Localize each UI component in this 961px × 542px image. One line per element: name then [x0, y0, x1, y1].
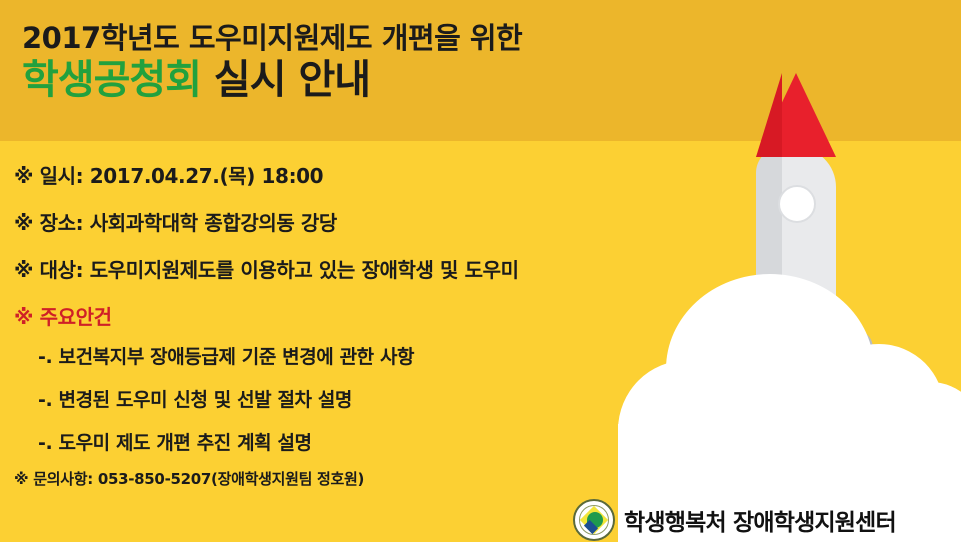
headline-title: 학생공청회 실시 안내 — [22, 57, 722, 104]
agenda-item: -. 변경된 도우미 신청 및 선발 절차 설명 — [38, 385, 674, 412]
detail-location: ※ 장소: 사회과학대학 종합강의동 강당 — [14, 207, 674, 236]
headline-title-rest: 실시 안내 — [201, 57, 370, 103]
agenda-item: -. 보건복지부 장애등급제 기준 변경에 관한 사항 — [38, 342, 674, 369]
rocket-window — [778, 185, 816, 223]
poster-canvas: 2017학년도 도우미지원제도 개편을 위한 학생공청회 실시 안내 ※ 일시:… — [0, 0, 961, 542]
details-block: ※ 일시: 2017.04.27.(목) 18:00 ※ 장소: 사회과학대학 … — [14, 160, 674, 471]
rocket-nose-cone-shadow — [756, 73, 782, 157]
contact-info: ※ 문의사항: 053-850-5207(장애학생지원팀 정호원) — [14, 468, 364, 489]
detail-date: ※ 일시: 2017.04.27.(목) 18:00 — [14, 160, 674, 189]
headline-block: 2017학년도 도우미지원제도 개편을 위한 학생공청회 실시 안내 — [22, 22, 722, 105]
footer-organization: 학생행복처 장애학생지원센터 — [624, 503, 896, 537]
university-seal-icon — [573, 499, 615, 541]
headline-title-highlight: 학생공청회 — [22, 57, 201, 103]
agenda-heading: ※ 주요안건 — [14, 301, 674, 330]
headline-subtitle: 2017학년도 도우미지원제도 개편을 위한 — [22, 22, 722, 55]
detail-audience: ※ 대상: 도우미지원제도를 이용하고 있는 장애학생 및 도우미 — [14, 254, 674, 283]
agenda-item: -. 도우미 제도 개편 추진 계획 설명 — [38, 428, 674, 455]
footer-block: 학생행복처 장애학생지원센터 — [573, 499, 896, 541]
